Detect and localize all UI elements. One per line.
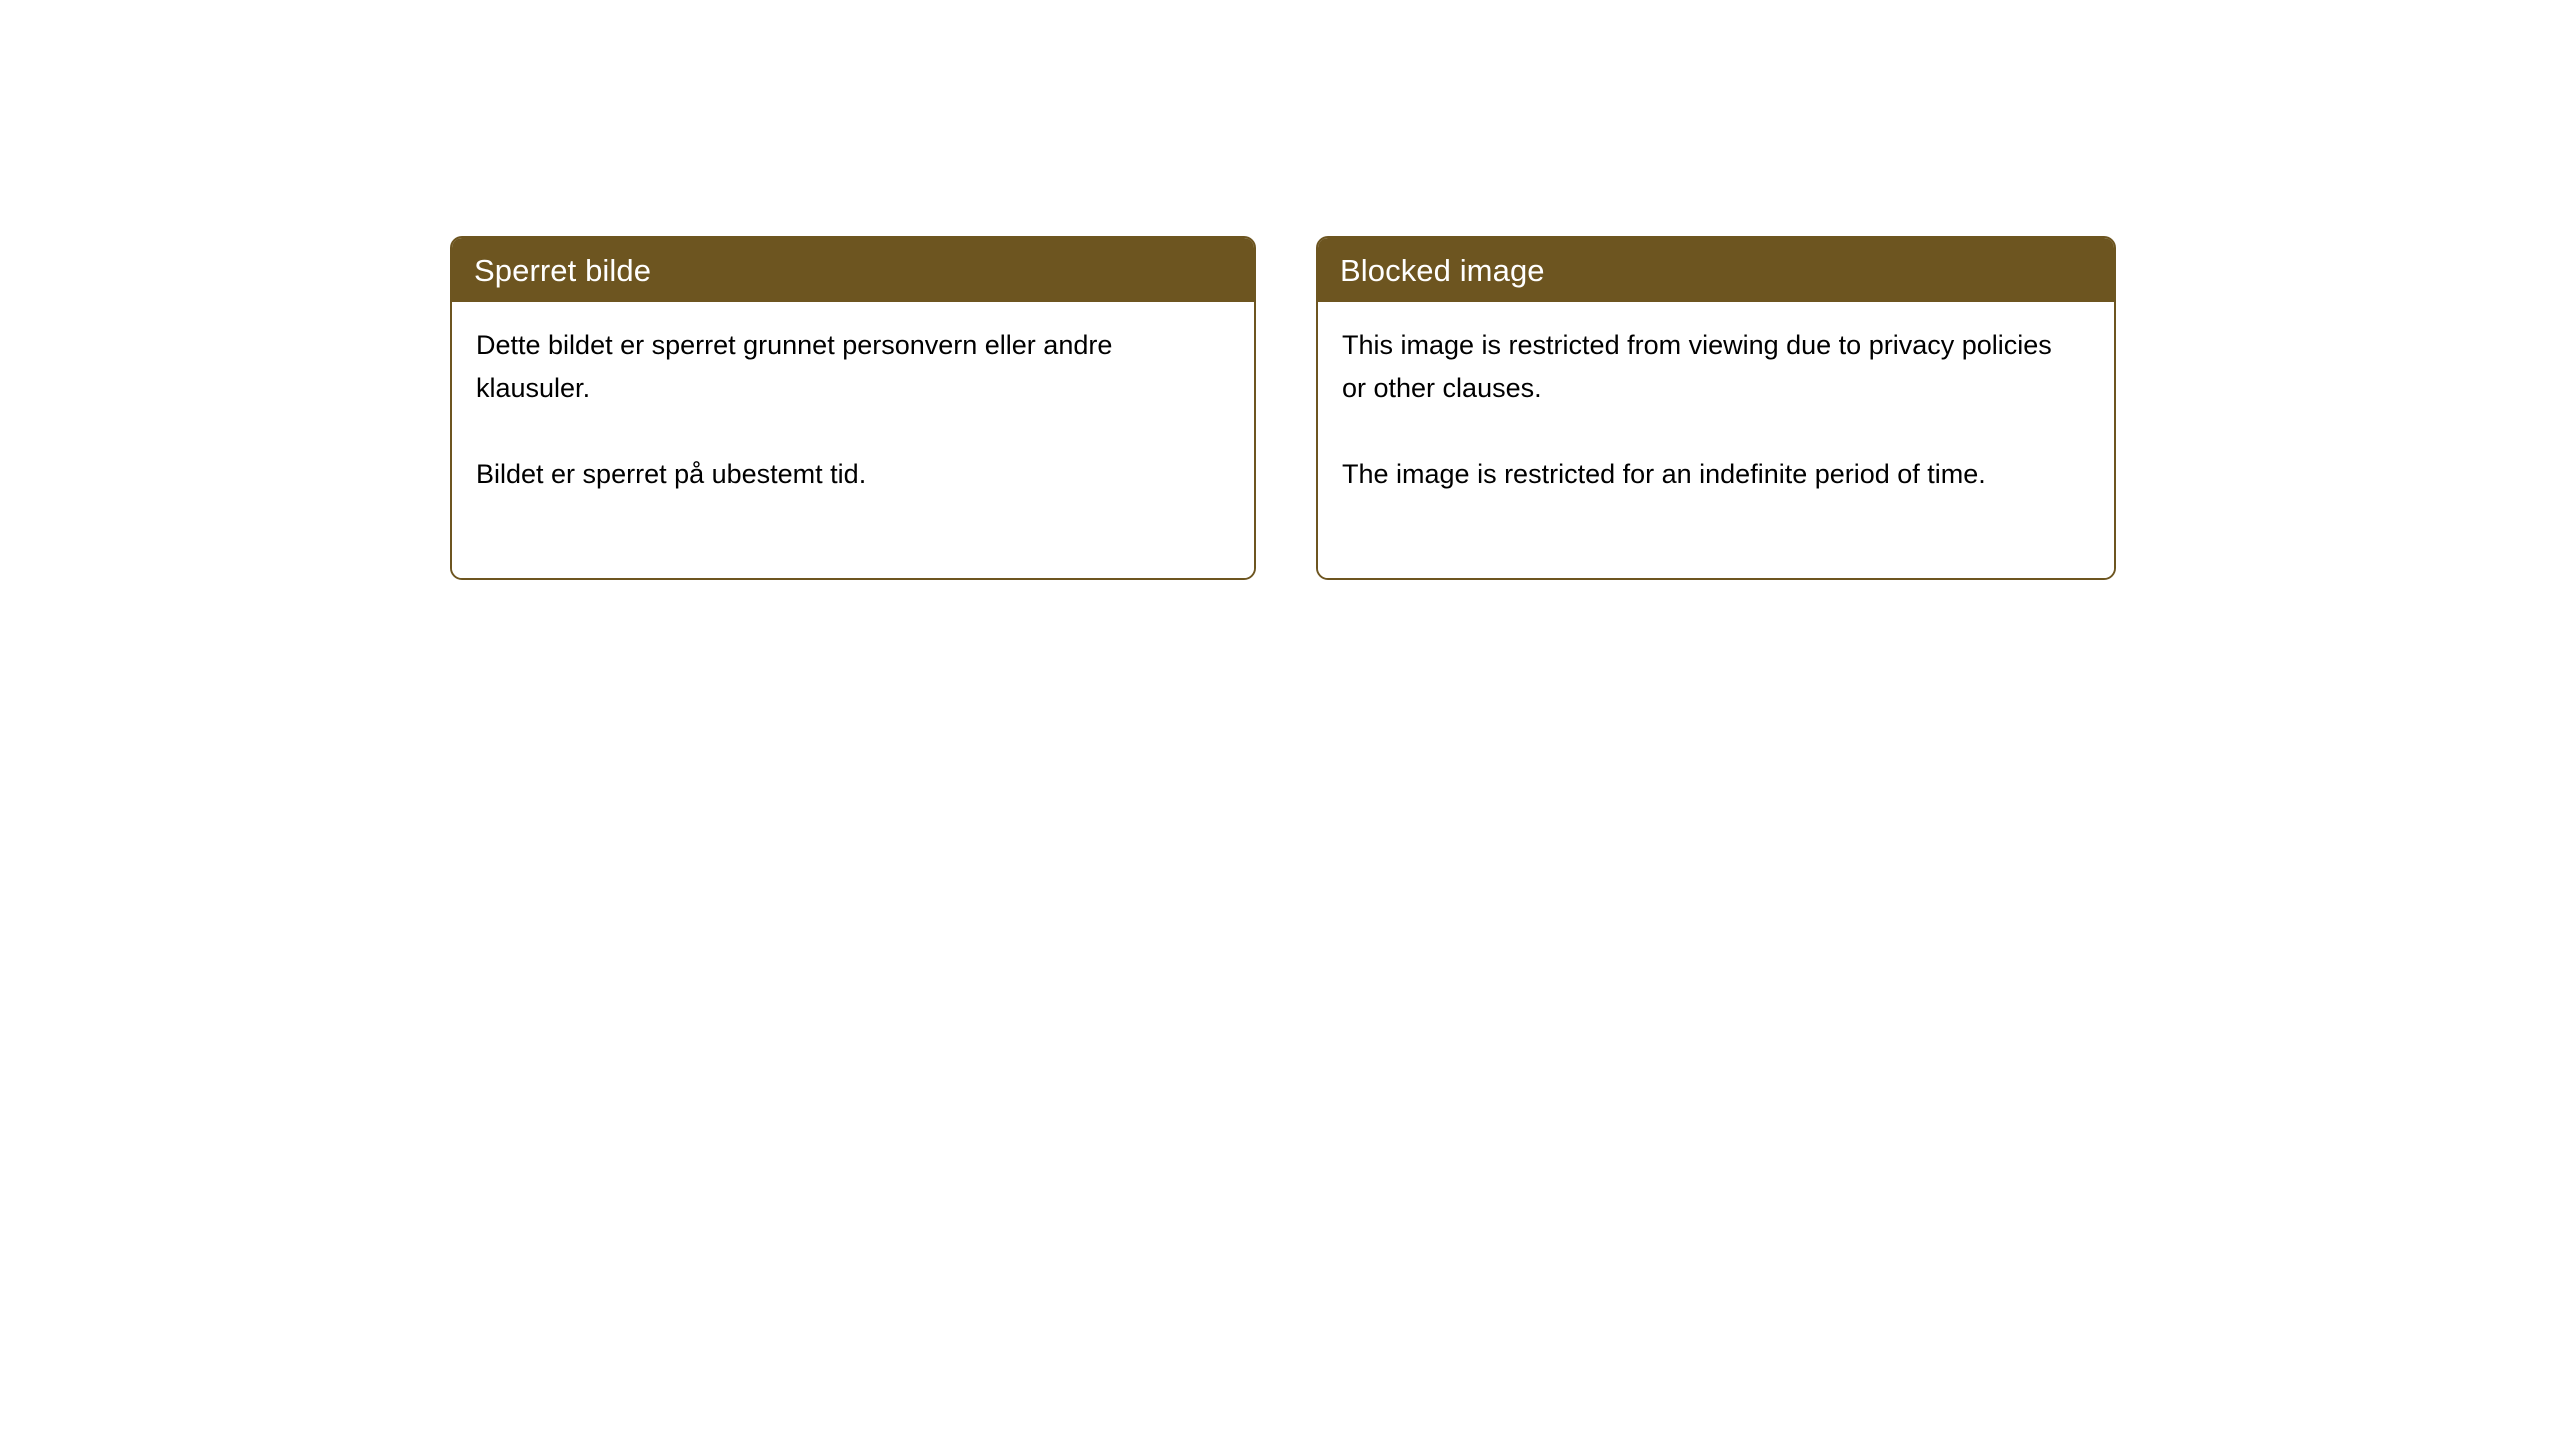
notice-card-body: Dette bildet er sperret grunnet personve… <box>452 302 1254 578</box>
notice-card-title: Sperret bilde <box>474 255 651 286</box>
notice-card-header: Sperret bilde <box>452 238 1254 302</box>
notice-reason-text: This image is restricted from viewing du… <box>1342 324 2062 410</box>
notice-reason-text: Dette bildet er sperret grunnet personve… <box>476 324 1176 410</box>
notice-duration-text: The image is restricted for an indefinit… <box>1342 453 2062 496</box>
notice-card-header: Blocked image <box>1318 238 2114 302</box>
blocked-image-notice-card-norwegian: Sperret bilde Dette bildet er sperret gr… <box>450 236 1256 580</box>
notice-card-body: This image is restricted from viewing du… <box>1318 302 2114 578</box>
blocked-image-notice-area: Sperret bilde Dette bildet er sperret gr… <box>450 236 2116 580</box>
blocked-image-notice-card-english: Blocked image This image is restricted f… <box>1316 236 2116 580</box>
notice-card-title: Blocked image <box>1340 255 1545 286</box>
notice-duration-text: Bildet er sperret på ubestemt tid. <box>476 453 1176 496</box>
